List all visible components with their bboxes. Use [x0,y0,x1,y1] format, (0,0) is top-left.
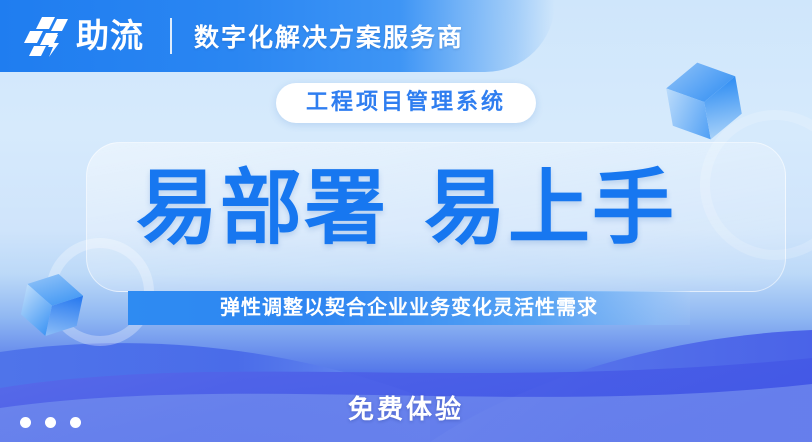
product-badge-label: 工程项目管理系统 [306,89,506,114]
carousel-dot-1[interactable] [20,417,31,428]
lightning-parallelogram-logo-icon [24,13,70,59]
header-divider [170,18,172,54]
carousel-dot-3[interactable] [70,417,81,428]
cube-icon-bottom-left [20,270,84,340]
brand-name: 助流 [76,19,144,54]
promo-banner: 助流 数字化解决方案服务商 工程项目管理系统 易部署易上手 弹性调整以契合企业业… [0,0,812,442]
headline-part-1: 易部署 [136,163,388,254]
cta-label[interactable]: 免费体验 [348,394,464,424]
headline-part-2: 易上手 [424,163,676,254]
brand-tagline: 数字化解决方案服务商 [194,18,464,54]
subtitle-bar: 弹性调整以契合企业业务变化灵活性需求 [128,291,690,325]
subtitle-text: 弹性调整以契合企业业务变化灵活性需求 [220,298,598,318]
banner-header: 助流 数字化解决方案服务商 [0,0,812,72]
carousel-dot-2[interactable] [45,417,56,428]
cta-container[interactable]: 免费体验 [0,389,812,426]
carousel-dots[interactable] [20,417,81,428]
product-badge: 工程项目管理系统 [276,83,536,123]
headline: 易部署易上手 [0,168,812,250]
